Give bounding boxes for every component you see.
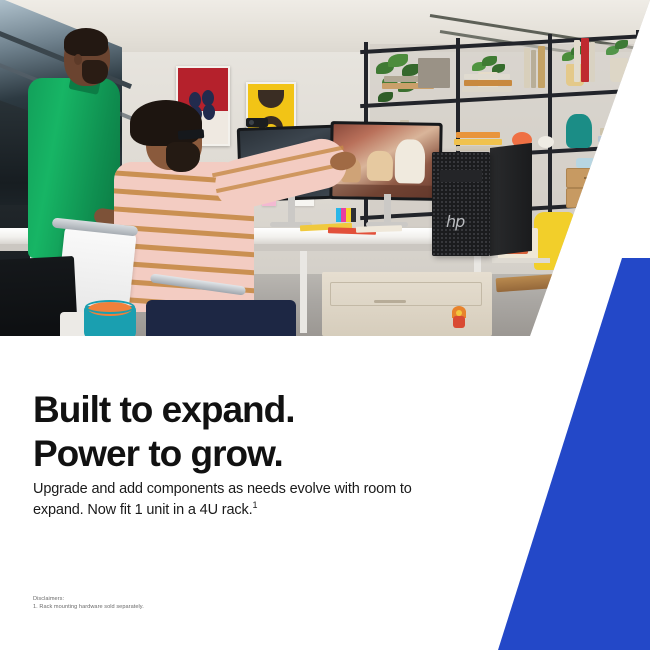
shelf-book <box>598 136 646 142</box>
shelf-drawer <box>614 166 648 186</box>
sunglasses <box>178 129 205 140</box>
shelf-book <box>581 38 589 82</box>
person-seated <box>100 104 330 336</box>
hair <box>130 100 202 146</box>
marketing-slide: hp <box>0 0 650 650</box>
shelf-drawer <box>566 188 612 208</box>
hp-logo: hp <box>446 214 464 230</box>
page-title: Built to expand. Power to grow. <box>33 388 453 476</box>
disclaimer-item-1: 1. Rack mounting hardware sold separatel… <box>33 603 433 611</box>
shelf-book <box>464 74 510 79</box>
shelf-book <box>538 46 545 88</box>
shelf-box <box>418 58 450 88</box>
shelf-book <box>600 143 646 148</box>
footnote-marker: 1 <box>252 500 257 510</box>
shelf-book <box>454 139 502 145</box>
cabinet-drawer <box>330 282 482 306</box>
shelf-book <box>464 80 512 86</box>
shelf-book <box>524 48 530 88</box>
subcopy-line-1: Upgrade and add components as needs evol… <box>33 481 360 497</box>
disclaimers: Disclaimers: 1. Rack mounting hardware s… <box>33 595 433 611</box>
shelf-book <box>462 87 512 92</box>
monitor-stand <box>384 194 391 224</box>
shelf-object-teal <box>566 114 592 148</box>
cabinet-handle <box>374 300 406 303</box>
workstation-tower: hp <box>432 152 490 256</box>
disclaimers-title: Disclaimers: <box>33 595 433 603</box>
mug-secondary <box>60 312 86 336</box>
shelf-drawer <box>614 186 648 206</box>
shelf-object <box>538 136 554 148</box>
headline-line-2: Power to grow. <box>33 432 453 476</box>
wood-plank <box>496 274 561 292</box>
color-swatch <box>351 208 356 222</box>
headline-line-1: Built to expand. <box>33 389 295 430</box>
shelf-book <box>574 40 580 82</box>
shelf-book <box>590 42 595 82</box>
workstation-side-panel <box>490 143 532 256</box>
office-scene: hp <box>0 0 650 336</box>
cabinet-sticker <box>448 306 470 330</box>
beard <box>82 60 108 84</box>
text-content: Built to expand. Power to grow. Upgrade … <box>0 336 650 650</box>
shelf-book <box>456 132 500 138</box>
shelf-drawer <box>566 168 612 188</box>
tower-mesh-front <box>432 152 490 256</box>
subcopy: Upgrade and add components as needs evol… <box>33 479 423 521</box>
shelf-post <box>548 34 552 228</box>
tower-drive-bay <box>440 170 482 182</box>
shelf-ledge <box>492 258 550 263</box>
shelf-book <box>600 128 644 135</box>
hero-image: hp <box>0 0 650 336</box>
ear <box>74 54 82 65</box>
shelf-pot <box>610 58 628 82</box>
mug-rim <box>85 300 135 314</box>
trousers <box>146 300 296 336</box>
hair <box>64 28 108 56</box>
shelf-post <box>636 30 640 228</box>
shelf-book <box>531 50 536 88</box>
shelf-textile <box>576 158 616 168</box>
